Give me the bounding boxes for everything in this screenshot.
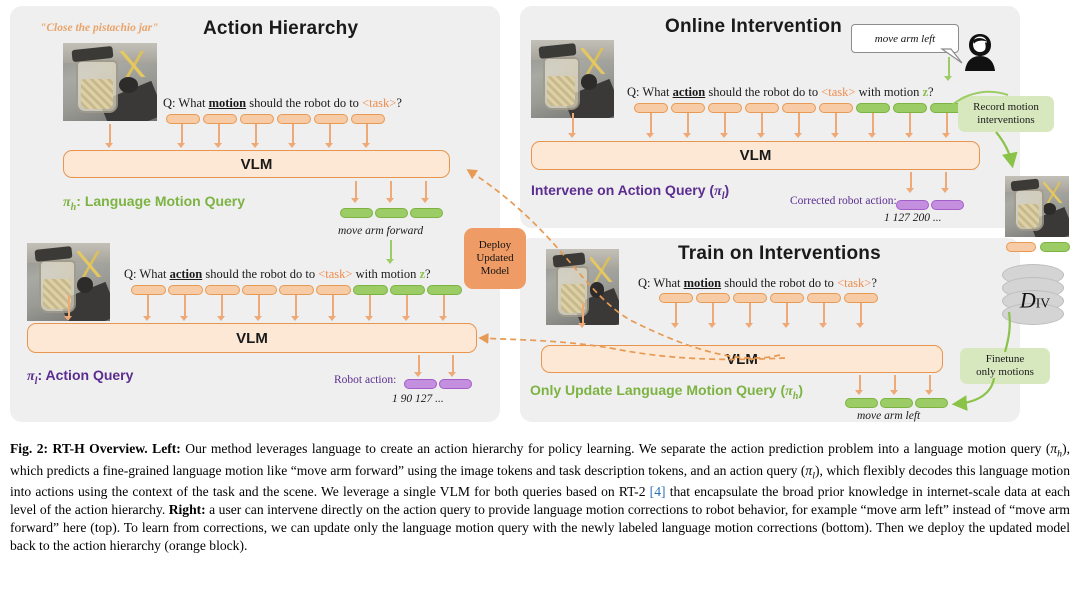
arrow-down-icon xyxy=(362,124,371,148)
arrow-down-icon xyxy=(855,375,864,395)
intervention-to-record-connector xyxy=(950,85,1010,111)
arrow-down-icon xyxy=(942,113,951,138)
arrow-down-icon xyxy=(905,113,914,138)
policy-label-text: : Language Motion Query xyxy=(76,193,245,209)
vlm-box-top: VLM xyxy=(63,150,450,178)
arrow-down-icon xyxy=(365,295,374,321)
q-suffix: ? xyxy=(928,85,934,99)
pi-symbol: π xyxy=(785,384,793,399)
caption-left-text-1: Our method leverages language to create … xyxy=(181,441,1051,456)
q-keyword: action xyxy=(170,267,203,281)
token-pill xyxy=(205,285,240,295)
record-callout-line-2: interventions xyxy=(973,114,1039,127)
q-task-token: <task> xyxy=(318,267,352,281)
arrow-down-icon xyxy=(291,295,300,321)
arrow-down-icon xyxy=(890,375,899,395)
token-pill xyxy=(314,114,348,124)
panel-title-online-intervention: Online Intervention xyxy=(665,16,842,38)
token-pill xyxy=(168,285,203,295)
token-pill xyxy=(242,285,277,295)
token-pill xyxy=(410,208,443,218)
token-pill xyxy=(131,285,166,295)
token-pill xyxy=(819,103,853,113)
q-keyword: action xyxy=(673,85,706,99)
robot-action-values: 1 90 127 ... xyxy=(392,393,444,405)
arrow-down-icon xyxy=(351,181,360,203)
arrow-down-icon xyxy=(217,295,226,321)
q-task-token: <task> xyxy=(837,276,871,290)
token-pill xyxy=(351,114,385,124)
token-pill xyxy=(316,285,351,295)
arrow-down-icon xyxy=(64,295,73,321)
token-pill xyxy=(390,285,425,295)
arrow-down-icon xyxy=(328,295,337,321)
question-text-motion: Q: What motion should the robot do to <t… xyxy=(163,96,402,111)
policy-label-text: : Action Query xyxy=(37,367,133,383)
speech-bubble-text: move arm left xyxy=(875,33,935,45)
dataset-to-finetune-arrow xyxy=(995,312,1025,354)
arrow-down-icon xyxy=(414,355,423,377)
corrected-action-values: 1 127 200 ... xyxy=(884,212,942,224)
token-pill xyxy=(203,114,237,124)
robot-action-label: Robot action: xyxy=(334,374,396,386)
arrow-down-icon xyxy=(143,295,152,321)
token-pill xyxy=(880,398,913,408)
token-pill xyxy=(375,208,408,218)
arrow-down-icon xyxy=(646,113,655,138)
token-pill xyxy=(279,285,314,295)
token-pill xyxy=(671,103,705,113)
person-icon xyxy=(963,32,997,72)
caption-citation[interactable]: [4] xyxy=(650,484,666,499)
caption-title: RT-H Overview. xyxy=(48,441,152,456)
token-pill xyxy=(893,103,927,113)
vlm-label: VLM xyxy=(241,156,273,173)
token-pill xyxy=(1040,242,1070,252)
token-pill xyxy=(896,200,929,210)
caption-fig-number: Fig. 2: xyxy=(10,441,48,456)
arrow-down-icon xyxy=(941,172,950,193)
arrow-down-icon xyxy=(794,113,803,138)
q-motion: with motion xyxy=(352,267,419,281)
policy-label-close: ) xyxy=(798,382,803,398)
question-text-action: Q: What action should the robot do to <t… xyxy=(124,267,431,282)
token-pill xyxy=(634,103,668,113)
deploy-connector-arrows xyxy=(440,150,800,370)
arrow-down-icon xyxy=(757,113,766,138)
vlm-box-bottom: VLM xyxy=(27,323,477,353)
q-mid: should the robot do to xyxy=(202,267,318,281)
token-pill xyxy=(931,200,964,210)
q-suffix: ? xyxy=(396,96,402,110)
token-pill xyxy=(166,114,200,124)
arrow-down-icon xyxy=(177,124,186,148)
q-keyword: motion xyxy=(209,96,247,110)
arrow-down-icon xyxy=(105,124,114,148)
token-pill xyxy=(277,114,311,124)
arrow-down-icon xyxy=(944,57,953,81)
token-pill xyxy=(807,293,841,303)
token-pill xyxy=(240,114,274,124)
policy-label-text: Only Update Language Motion Query ( xyxy=(530,382,785,398)
token-pill xyxy=(782,103,816,113)
token-pill xyxy=(845,398,878,408)
arrow-down-icon xyxy=(568,113,577,138)
dataset-scene-image xyxy=(1005,176,1069,237)
policy-label-only-update: Only Update Language Motion Query (πh) xyxy=(530,382,803,402)
finetune-callout-line-1: Finetune xyxy=(976,353,1034,366)
q-prefix: Q: What xyxy=(124,267,170,281)
token-pill xyxy=(708,103,742,113)
q-task-token: <task> xyxy=(821,85,855,99)
token-pill xyxy=(1006,242,1036,252)
arrow-down-icon xyxy=(906,172,915,193)
arrow-down-icon xyxy=(819,303,828,328)
token-pill xyxy=(844,293,878,303)
question-text-action: Q: What action should the robot do to <t… xyxy=(627,85,934,100)
q-suffix: ? xyxy=(425,267,431,281)
q-prefix: Q: What xyxy=(163,96,209,110)
arrow-down-icon xyxy=(180,295,189,321)
caption-left-bold: Left: xyxy=(152,441,181,456)
arrow-down-icon xyxy=(288,124,297,148)
q-mid: should the robot do to xyxy=(705,85,821,99)
pi-symbol: π xyxy=(63,195,71,210)
arrow-down-icon xyxy=(683,113,692,138)
dataset-label-sub: IV xyxy=(1036,295,1050,310)
arrow-down-icon xyxy=(720,113,729,138)
arrow-down-icon xyxy=(251,124,260,148)
task-quote: "Close the pistachio jar" xyxy=(40,22,159,34)
arrow-down-icon xyxy=(214,124,223,148)
arrow-down-icon xyxy=(402,295,411,321)
panel-title-action-hierarchy: Action Hierarchy xyxy=(203,18,358,40)
arrow-down-icon xyxy=(868,113,877,138)
caption-right-bold: Right: xyxy=(169,502,206,517)
motion-output-caption: move arm forward xyxy=(338,225,423,237)
robot-scene-image xyxy=(531,40,614,118)
arrow-down-icon xyxy=(421,181,430,203)
token-pill xyxy=(856,103,890,113)
token-pill xyxy=(353,285,388,295)
token-pill xyxy=(340,208,373,218)
dataset-label: DIV xyxy=(1003,282,1067,313)
dataset-label-main: D xyxy=(1020,287,1036,312)
token-pill xyxy=(404,379,437,389)
arrow-down-icon xyxy=(386,240,395,264)
arrow-down-icon xyxy=(325,124,334,148)
q-suffix: ? xyxy=(871,276,877,290)
record-to-dataset-arrow xyxy=(990,130,1030,176)
policy-label-pi-l: πl: Action Query xyxy=(27,367,133,387)
q-prefix: Q: What xyxy=(627,85,673,99)
arrow-down-icon xyxy=(386,181,395,203)
token-pill xyxy=(745,103,779,113)
arrow-down-icon xyxy=(254,295,263,321)
arrow-down-icon xyxy=(831,113,840,138)
vlm-label: VLM xyxy=(236,330,268,347)
policy-label-pi-h: πh: Language Motion Query xyxy=(63,193,245,213)
finetune-to-tokens-arrow xyxy=(930,378,1000,412)
q-task-token: <task> xyxy=(362,96,396,110)
corrected-action-label: Corrected robot action: xyxy=(790,195,897,207)
q-motion: with motion xyxy=(855,85,922,99)
figure-diagram: "Close the pistachio jar" Action Hierarc… xyxy=(0,0,1080,430)
token-pill xyxy=(439,379,472,389)
motion-output-caption: move arm left xyxy=(857,410,920,422)
robot-scene-image xyxy=(63,43,157,121)
pi-symbol: π xyxy=(27,369,35,384)
arrow-down-icon xyxy=(856,303,865,328)
figure-caption: Fig. 2: RT-H Overview. Left: Our method … xyxy=(10,440,1070,555)
q-mid: should the robot do to xyxy=(246,96,362,110)
